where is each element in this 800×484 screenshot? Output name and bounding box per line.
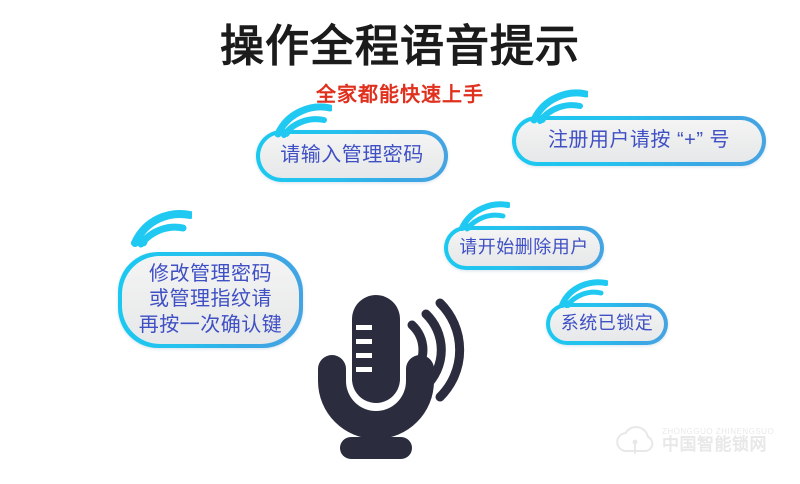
poster-canvas: 操作全程语音提示 全家都能快速上手 请输入管理密码 注册用户请按 “+” 号 — [0, 0, 800, 484]
bubble-inner: 注册用户请按 “+” 号 — [516, 120, 762, 162]
microphone-with-sound-waves-icon — [300, 287, 472, 467]
bubble-label: 注册用户请按 “+” 号 — [548, 128, 730, 154]
bubble-label: 请开始删除用户 — [459, 236, 589, 259]
bubble-label: 请输入管理密码 — [280, 143, 424, 169]
watermark: ZHONGGUO ZHINENGSUO 中国智能锁网 — [612, 412, 787, 470]
bubble-shell: 请输入管理密码 — [256, 130, 448, 182]
speech-bubble-change-password: 修改管理密码 或管理指纹请 再按一次确认键 — [118, 252, 303, 348]
bubble-inner: 修改管理密码 或管理指纹请 再按一次确认键 — [122, 256, 299, 344]
speech-bubble-system-locked: 系统已锁定 — [546, 303, 668, 345]
watermark-text: ZHONGGUO ZHINENGSUO 中国智能锁网 — [662, 428, 774, 455]
sound-wave-icon — [130, 208, 192, 248]
microphone-illustration — [300, 287, 472, 472]
bubble-label: 系统已锁定 — [561, 312, 654, 335]
bubble-inner: 请开始删除用户 — [448, 230, 600, 266]
page-title: 操作全程语音提示 — [0, 22, 800, 73]
page-subtitle: 全家都能快速上手 — [0, 78, 800, 107]
bubble-label: 修改管理密码 或管理指纹请 再按一次确认键 — [139, 262, 283, 339]
watermark-chinese: 中国智能锁网 — [662, 436, 774, 455]
bubble-inner: 请输入管理密码 — [260, 134, 444, 178]
bubble-shell: 注册用户请按 “+” 号 — [512, 116, 766, 166]
speech-bubble-register-press-plus: 注册用户请按 “+” 号 — [512, 116, 766, 166]
speech-bubble-start-delete-user: 请开始删除用户 — [444, 226, 604, 270]
speech-bubble-enter-admin-password: 请输入管理密码 — [256, 130, 448, 182]
bubble-shell: 请开始删除用户 — [444, 226, 604, 270]
bubble-shell: 系统已锁定 — [546, 303, 668, 345]
bubble-inner: 系统已锁定 — [550, 307, 664, 341]
cloud-icon — [612, 421, 658, 461]
bubble-shell: 修改管理密码 或管理指纹请 再按一次确认键 — [118, 252, 303, 348]
